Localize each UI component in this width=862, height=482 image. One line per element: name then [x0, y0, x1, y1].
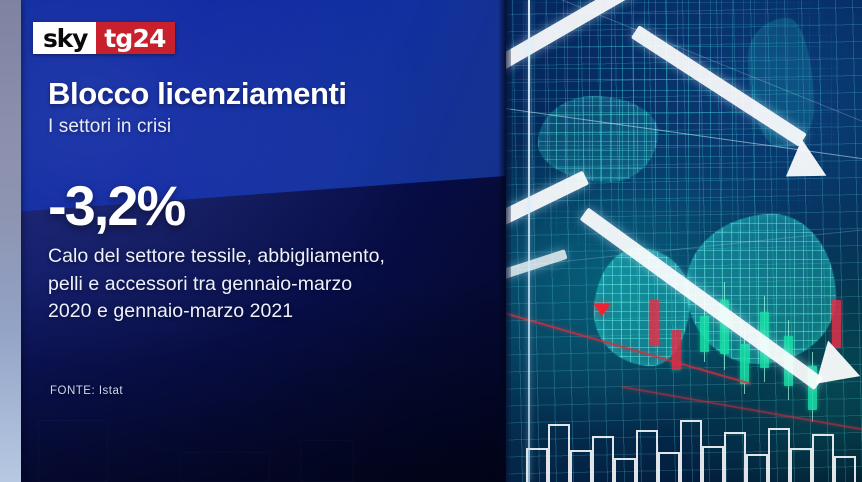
map-landmass-europe-grid — [538, 96, 658, 182]
description-line-3: 2020 e gennaio-marzo 2021 — [48, 298, 385, 326]
bar-chart-bar — [636, 430, 658, 482]
sky-tg24-logo[interactable]: sky tg24 — [33, 22, 175, 54]
key-figure: -3,2% — [48, 178, 184, 234]
candlestick-red — [832, 300, 841, 348]
bar-chart-bar — [592, 436, 614, 482]
bar-chart-bar — [812, 434, 834, 482]
bar-chart-bar — [746, 454, 768, 482]
candlestick-green — [700, 316, 709, 352]
bar-chart-bar — [724, 432, 746, 482]
page-title: Blocco licenziamenti — [48, 78, 347, 111]
source-attribution: FONTE: Istat — [50, 385, 123, 397]
market-graphic-image — [472, 0, 862, 482]
logo-tg24-text: tg24 — [96, 22, 174, 54]
bar-chart-bar — [768, 428, 790, 482]
bar-chart-bar — [834, 456, 856, 482]
bar-chart-bar — [680, 420, 702, 482]
description-text: Calo del settore tessile, abbigliamento,… — [48, 243, 385, 326]
info-panel: sky tg24 Blocco licenziamenti I settori … — [0, 0, 506, 482]
bar-chart-bar — [548, 424, 570, 482]
broadcast-lower-third: sky tg24 Blocco licenziamenti I settori … — [0, 0, 862, 482]
bar-chart-bar — [614, 458, 636, 482]
panel-vignette — [0, 0, 506, 482]
bar-chart-bar — [790, 448, 812, 482]
red-marker-icon — [594, 304, 610, 316]
description-line-2: pelli e accessori tra gennaio-marzo — [48, 271, 385, 299]
candlestick-green — [740, 344, 749, 384]
bar-chart-bar — [702, 446, 724, 482]
panel-right-edge — [498, 0, 506, 482]
logo-sky-text: sky — [33, 22, 96, 54]
left-grey-strip — [0, 0, 21, 482]
page-subtitle: I settori in crisi — [48, 116, 171, 138]
description-line-1: Calo del settore tessile, abbigliamento, — [48, 243, 385, 271]
bar-chart-bar — [658, 452, 680, 482]
image-separator-line — [528, 0, 530, 482]
candlestick-red — [650, 300, 659, 346]
bar-chart-bar — [570, 450, 592, 482]
